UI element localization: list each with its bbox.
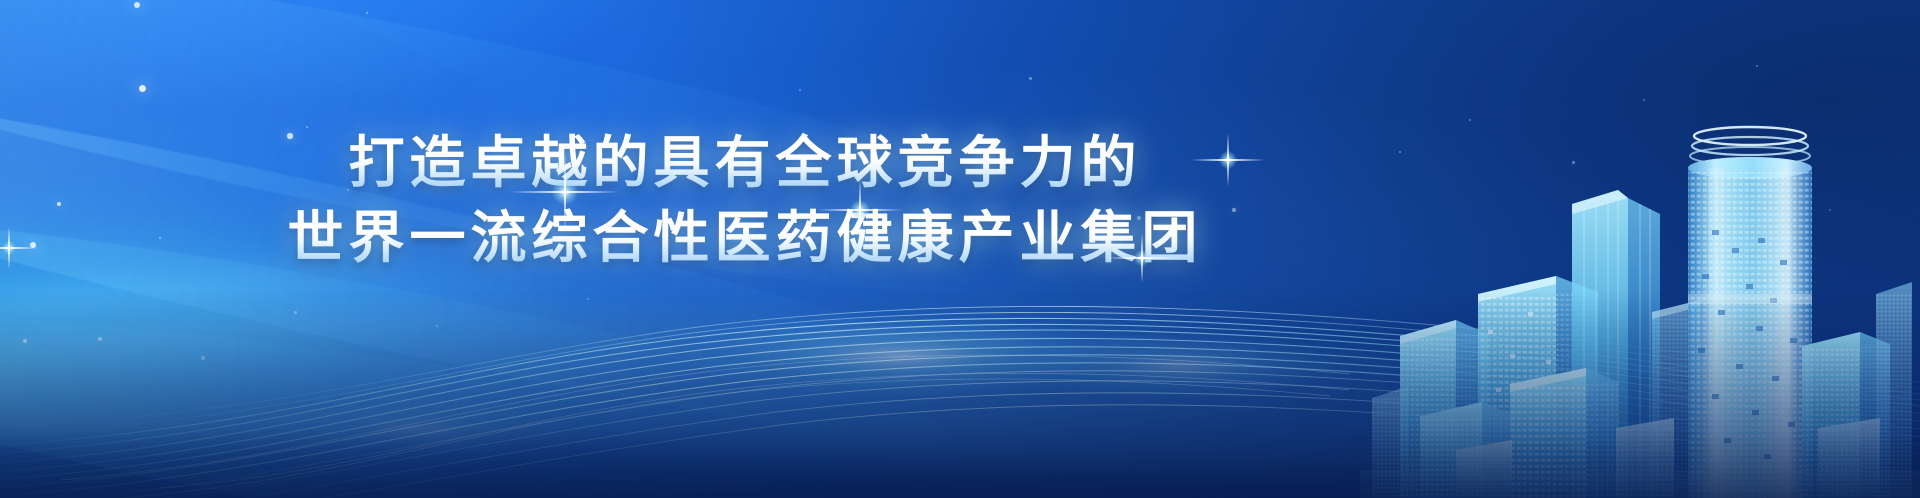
lens-flare	[1191, 123, 1265, 197]
ribbon-5	[0, 0, 820, 498]
star-particle	[139, 85, 146, 92]
headline-block: 打造卓越的具有全球竞争力的 世界一流综合性医药健康产业集团	[0, 128, 1490, 274]
star-particle	[1399, 151, 1402, 154]
star-particle	[98, 337, 102, 341]
building-center-main	[1478, 276, 1598, 498]
wave-band-3	[258, 304, 1762, 496]
star-particle	[1469, 119, 1472, 122]
background-bottom-shade	[0, 0, 1920, 498]
star-particle	[1756, 65, 1759, 68]
star-particle	[347, 189, 350, 192]
building-left-stepped	[1400, 320, 1488, 498]
star-particle	[159, 237, 162, 240]
star-particle	[23, 339, 28, 344]
star-particle	[306, 126, 308, 128]
lens-flare	[510, 137, 620, 247]
star-particle	[201, 356, 204, 359]
building-foreground-blocks	[1456, 418, 1880, 498]
star-particle	[799, 89, 802, 92]
flowing-light-streaks	[0, 198, 1920, 498]
wave-band-4	[0, 180, 880, 440]
wave-band-2	[0, 278, 1502, 472]
ribbon-2	[0, 18, 1123, 498]
building-cylindrical-landmark	[1688, 127, 1812, 498]
star-particle	[1643, 99, 1645, 101]
building-slim-right-rear	[1652, 300, 1700, 498]
star-particle	[57, 202, 61, 206]
star-particle	[1232, 208, 1235, 211]
star-particle	[366, 12, 368, 14]
building-front-left-block	[1420, 402, 1510, 498]
ribbon-4	[0, 248, 1187, 498]
building-far-right	[1876, 282, 1912, 498]
lens-flare	[1107, 223, 1177, 293]
building-far-left	[1372, 386, 1408, 498]
hero-banner: 打造卓越的具有全球竞争力的 世界一流综合性医药健康产业集团	[0, 0, 1920, 498]
star-particle	[294, 311, 297, 314]
building-right-mid-block	[1802, 332, 1890, 498]
background-center-haze	[0, 0, 1920, 498]
lens-flare	[817, 167, 903, 253]
star-particle	[30, 242, 36, 248]
star-particle	[287, 133, 292, 138]
star-particle	[1572, 161, 1575, 164]
star-particle	[436, 325, 439, 328]
city-skyline	[1360, 98, 1920, 498]
headline-line-1: 打造卓越的具有全球竞争力的	[0, 128, 1490, 199]
star-particle	[134, 2, 140, 8]
lens-flare	[0, 218, 39, 278]
building-front-center-block	[1510, 368, 1618, 498]
ribbon-3	[0, 138, 1155, 498]
background-top-glow	[0, 0, 1920, 498]
ribbon-1	[0, 0, 1132, 353]
wave-band-1	[0, 211, 1244, 469]
star-particle	[587, 298, 589, 300]
headline-line-2: 世界一流综合性医药健康产业集团	[0, 203, 1490, 274]
star-particle	[1029, 77, 1032, 80]
background-right-shade	[0, 0, 1920, 498]
star-particle	[1829, 209, 1832, 212]
star-particle	[1137, 216, 1141, 220]
building-prism-tower	[1572, 190, 1660, 498]
background-cyan-glow	[0, 0, 1920, 498]
